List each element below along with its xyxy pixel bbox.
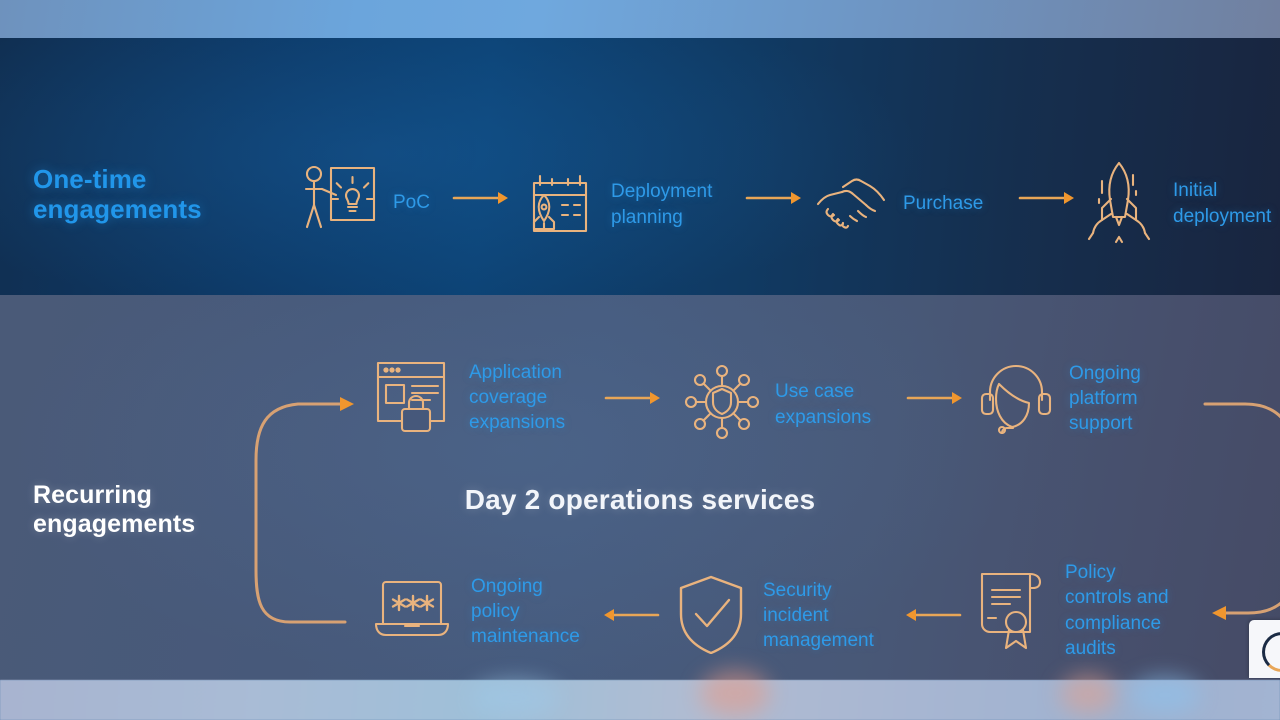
rocket-launch-icon (1078, 155, 1160, 252)
step-initial-deployment[interactable]: Initial deployment (1078, 155, 1271, 252)
day-2-operations-title: Day 2 operations services (0, 484, 1280, 516)
step-deployment-planning[interactable]: Deployment planning (522, 165, 712, 244)
network-shield-icon (682, 362, 762, 447)
arrow-left-security-to-policy-maintenance (600, 607, 660, 623)
loop-curve-right (1200, 385, 1280, 625)
loop-curve-left (250, 385, 380, 635)
step-label: Deployment planning (611, 179, 712, 230)
step-use-case-expansions[interactable]: Use case expansions (682, 362, 871, 447)
presenter-lightbulb-icon (300, 163, 380, 243)
headset-support-icon (978, 358, 1056, 439)
loading-ring-icon (1262, 632, 1280, 672)
arrow-right-poc-to-deployment (452, 190, 512, 206)
step-poc[interactable]: PoC (300, 163, 430, 243)
step-ongoing-platform-support[interactable]: Ongoing platform support (978, 358, 1141, 439)
step-label: Initial deployment (1173, 178, 1271, 229)
certificate-seal-icon (972, 560, 1052, 661)
step-label: Policy controls and compliance audits (1065, 560, 1169, 661)
section-label-one-time-engagements: One-time engagements (33, 164, 202, 224)
step-label: Purchase (903, 191, 983, 216)
bottom-gradient-band (0, 680, 1280, 720)
top-gradient-band (0, 0, 1280, 38)
arrow-right-deployment-to-purchase (745, 190, 805, 206)
laptop-password-icon (372, 572, 458, 651)
step-label: Application coverage expansions (469, 360, 565, 436)
arrow-right-purchase-to-initial-deployment (1018, 190, 1078, 206)
corner-logo-badge[interactable] (1249, 620, 1280, 678)
step-label: PoC (393, 190, 430, 215)
arrow-left-policy-controls-to-security (902, 607, 962, 623)
handshake-icon (812, 170, 890, 237)
step-label: Ongoing policy maintenance (471, 574, 580, 650)
calendar-rocket-icon (522, 165, 598, 244)
step-security-incident-management[interactable]: Security incident management (672, 572, 874, 659)
slide-canvas: One-time engagements Recurring engagemen… (0, 0, 1280, 720)
step-purchase[interactable]: Purchase (812, 170, 983, 237)
browser-lock-icon (372, 355, 456, 440)
arrow-right-application-to-use-case (604, 390, 664, 406)
step-policy-controls-compliance-audits[interactable]: Policy controls and compliance audits (972, 560, 1169, 661)
shield-check-icon (672, 572, 750, 659)
step-ongoing-policy-maintenance[interactable]: Ongoing policy maintenance (372, 572, 580, 651)
step-label: Ongoing platform support (1069, 361, 1141, 437)
arrow-right-use-case-to-platform-support (906, 390, 966, 406)
step-label: Security incident management (763, 578, 874, 654)
step-application-coverage-expansions[interactable]: Application coverage expansions (372, 355, 565, 440)
step-label: Use case expansions (775, 379, 871, 430)
